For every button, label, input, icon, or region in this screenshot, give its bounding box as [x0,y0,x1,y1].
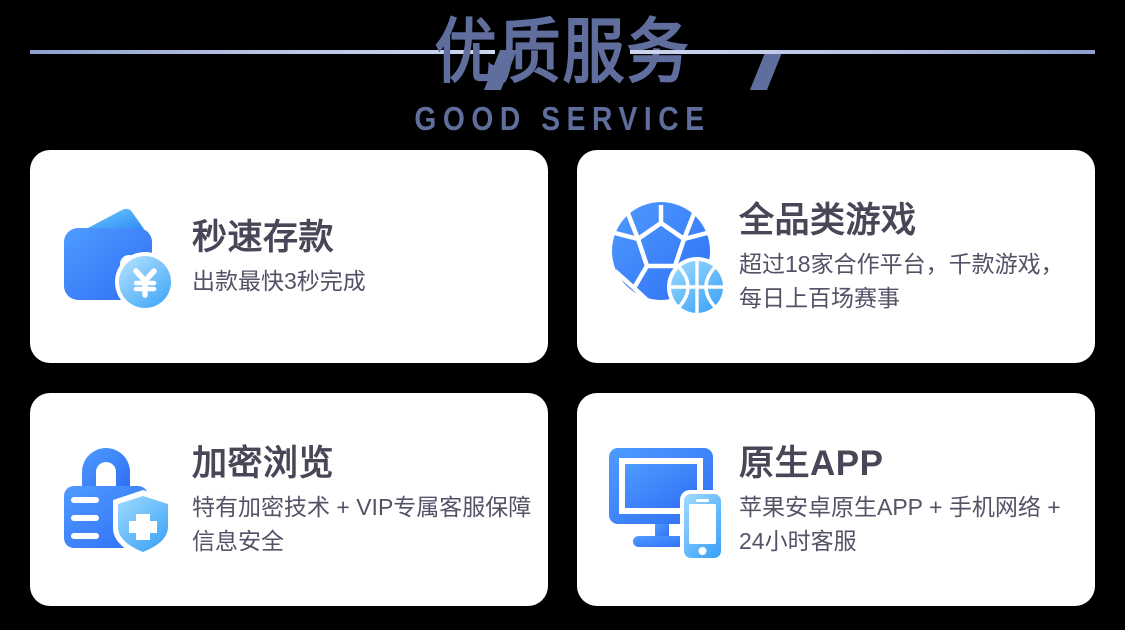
service-card-title: 秒速存款 [192,215,534,260]
service-card-text: 加密浏览 特有加密技术 + VIP专属客服保障信息安全 [192,441,548,558]
service-card-desc: 超过18家合作平台，千款游戏，每日上百场赛事 [739,247,1081,315]
service-card-text: 原生APP 苹果安卓原生APP + 手机网络 + 24小时客服 [739,441,1095,558]
service-card-desc: 特有加密技术 + VIP专属客服保障信息安全 [192,490,534,558]
lock-shield-icon [56,436,184,564]
service-card-text: 全品类游戏 超过18家合作平台，千款游戏，每日上百场赛事 [739,198,1095,315]
service-card-desc: 出款最快3秒完成 [192,264,534,298]
soccer-basketball-icon [603,193,731,321]
page-subtitle: GOOD SERVICE [34,101,1092,139]
service-card-title: 全品类游戏 [739,198,1081,243]
service-card-desc: 苹果安卓原生APP + 手机网络 + 24小时客服 [739,490,1081,558]
service-card-text: 秒速存款 出款最快3秒完成 [192,215,548,298]
header-rule-right-decoration [630,50,1095,54]
service-card-encryption[interactable]: 加密浏览 特有加密技术 + VIP专属客服保障信息安全 [30,393,548,606]
service-card-native-app[interactable]: 原生APP 苹果安卓原生APP + 手机网络 + 24小时客服 [577,393,1095,606]
service-card-games[interactable]: 全品类游戏 超过18家合作平台，千款游戏，每日上百场赛事 [577,150,1095,363]
service-card-title: 加密浏览 [192,441,534,486]
service-card-title: 原生APP [739,441,1081,486]
service-card-deposit[interactable]: 秒速存款 出款最快3秒完成 [30,150,548,363]
service-card-grid: 秒速存款 出款最快3秒完成 [30,150,1095,610]
page-header: 优质服务 GOOD SERVICE [0,0,1125,150]
wallet-icon [56,193,184,321]
monitor-phone-icon [603,436,731,564]
